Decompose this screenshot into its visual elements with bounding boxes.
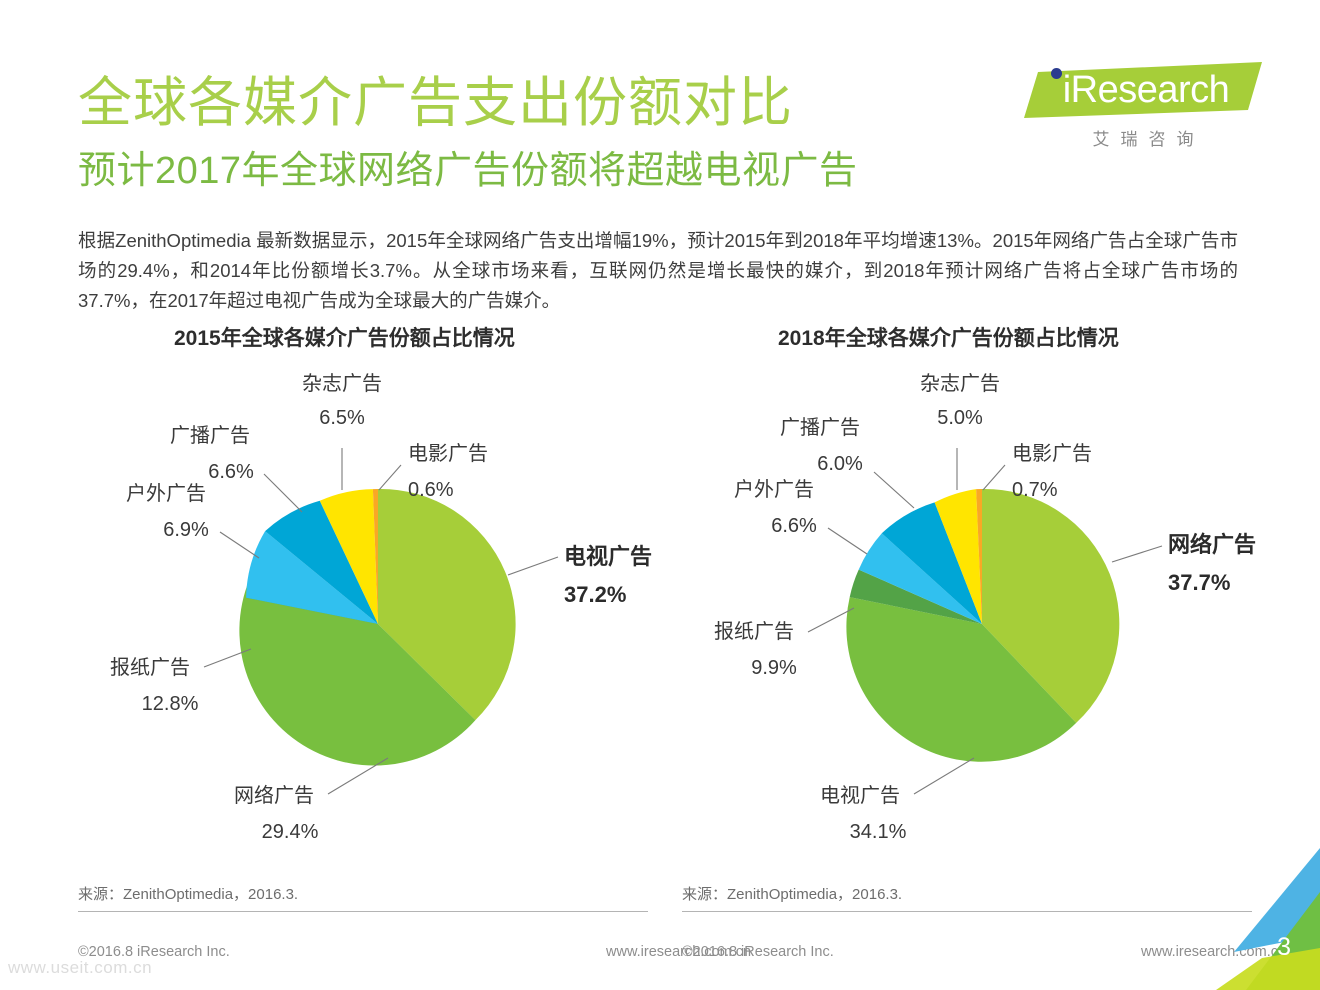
page-subtitle: 预计2017年全球网络广告份额将超越电视广告 bbox=[78, 148, 858, 194]
pie-label-internet-name: 网络广告 bbox=[234, 784, 314, 807]
slide-root: 全球各媒介广告支出份额对比 预计2017年全球网络广告份额将超越电视广告 iRe… bbox=[0, 0, 1320, 990]
chart-title-2018: 2018年全球各媒介广告份额占比情况 bbox=[778, 322, 1119, 352]
chart-panel-2015: 2015年全球各媒介广告份额占比情况 bbox=[78, 322, 658, 922]
pie-label-cinema-name: 电影广告 bbox=[1012, 442, 1092, 465]
logo-mark: iResearch bbox=[1024, 62, 1262, 118]
logo-chinese-name: 艾瑞咨询 bbox=[1024, 125, 1262, 150]
pie-label-newspaper-value: 12.8% bbox=[142, 693, 199, 715]
source-note-2018: 来源：ZenithOptimedia，2016.3. bbox=[682, 883, 1252, 912]
pie-label-cinema-value: 0.7% bbox=[1012, 479, 1058, 501]
pie-slices-2018 bbox=[846, 489, 1119, 762]
pie-label-magazine-value: 5.0% bbox=[937, 407, 983, 429]
pie-label-radio-value: 6.0% bbox=[817, 453, 863, 475]
pie-chart-2015: 杂志广告 6.5% 广播广告 6.6% 户外广告 6.9% 报纸广告 12.8%… bbox=[78, 362, 658, 862]
pie-label-radio-name: 广播广告 bbox=[170, 424, 250, 447]
logo-i-dot-icon bbox=[1051, 68, 1062, 79]
pie-label-tv-value: 37.2% bbox=[564, 582, 626, 607]
chart-title-2015: 2015年全球各媒介广告份额占比情况 bbox=[174, 322, 515, 352]
corner-shape-yellowgreen bbox=[1216, 948, 1320, 990]
pie-label-cinema-value: 0.6% bbox=[408, 479, 454, 501]
pie-label-newspaper-name: 报纸广告 bbox=[110, 656, 190, 679]
pie-label-outdoor-name: 户外广告 bbox=[126, 482, 206, 505]
pie-label-outdoor-value: 6.9% bbox=[163, 519, 209, 541]
pie-label-outdoor-name: 户外广告 bbox=[734, 478, 814, 501]
pie-label-tv-name: 电视广告 bbox=[820, 784, 900, 807]
page-title: 全球各媒介广告支出份额对比 bbox=[78, 72, 793, 134]
intro-paragraph: 根据ZenithOptimedia 最新数据显示，2015年全球网络广告支出增幅… bbox=[78, 226, 1238, 316]
pie-label-cinema-name: 电影广告 bbox=[408, 442, 488, 465]
pie-label-tv-name: 电视广告 bbox=[564, 544, 652, 569]
pie-label-internet-value: 37.7% bbox=[1168, 570, 1230, 595]
pie-label-internet-value: 29.4% bbox=[262, 821, 319, 843]
pie-label-magazine-name: 杂志广告 bbox=[920, 372, 1000, 395]
pie-chart-2018: 杂志广告 5.0% 广播广告 6.0% 户外广告 6.6% 报纸广告 9.9% … bbox=[682, 362, 1262, 862]
pie-label-newspaper-name: 报纸广告 bbox=[714, 620, 794, 643]
pie-label-radio-value: 6.6% bbox=[208, 461, 254, 483]
pie-label-magazine-value: 6.5% bbox=[319, 407, 365, 429]
source-note-2015: 来源：ZenithOptimedia，2016.3. bbox=[78, 883, 648, 912]
pie-label-radio-name: 广播广告 bbox=[780, 416, 860, 439]
page-number: 3 bbox=[1277, 933, 1291, 962]
pie-label-tv-value: 34.1% bbox=[850, 821, 907, 843]
iresearch-logo: iResearch 艾瑞咨询 bbox=[1024, 62, 1262, 154]
pie-label-newspaper-value: 9.9% bbox=[751, 657, 797, 679]
pie-label-outdoor-value: 6.6% bbox=[771, 515, 817, 537]
corner-decoration bbox=[1190, 840, 1320, 990]
pie-slices-2015 bbox=[239, 489, 515, 766]
footer-copyright-right: ©2016.8 iResearch Inc. bbox=[682, 944, 834, 960]
chart-panel-2018: 2018年全球各媒介广告份额占比情况 bbox=[682, 322, 1262, 922]
pie-label-magazine-name: 杂志广告 bbox=[302, 372, 382, 395]
watermark: www.useit.com.cn bbox=[8, 958, 152, 978]
pie-label-internet-name: 网络广告 bbox=[1168, 532, 1256, 557]
